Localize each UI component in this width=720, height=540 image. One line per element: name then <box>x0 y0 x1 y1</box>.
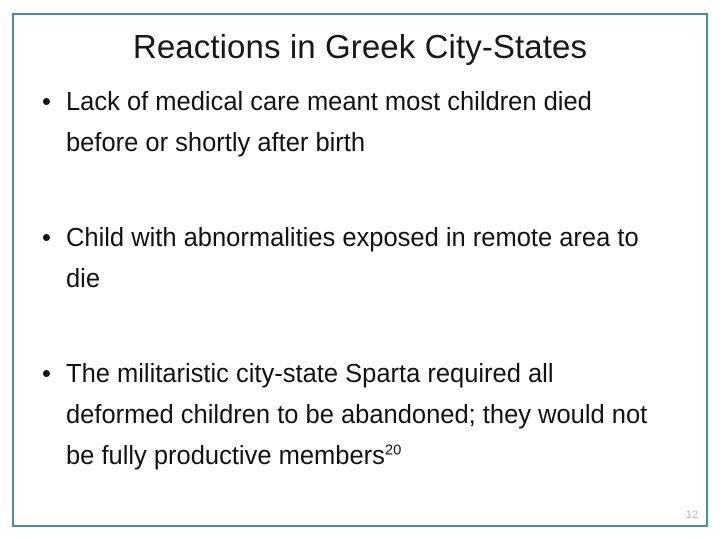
list-item: • Child with abnormalities exposed in re… <box>38 218 660 300</box>
page-title: Reactions in Greek City-States <box>30 27 690 67</box>
list-item: • The militaristic city-state Sparta req… <box>38 354 660 477</box>
bullet-point-icon: • <box>42 82 51 123</box>
slide-page-number: 12 <box>686 509 698 522</box>
bullet-list: • Lack of medical care meant most childr… <box>38 82 660 477</box>
bullet-point-icon: • <box>42 354 51 395</box>
slide-canvas: Reactions in Greek City-States • Lack of… <box>0 0 720 540</box>
list-item-body: The militaristic city-state Sparta requi… <box>66 360 647 470</box>
bullet-point-icon: • <box>42 218 51 259</box>
list-item-text: The militaristic city-state Sparta requi… <box>66 354 660 477</box>
list-item-text: Lack of medical care meant most children… <box>66 82 660 164</box>
footnote-reference: 20 <box>385 443 401 459</box>
list-item: • Lack of medical care meant most childr… <box>38 82 660 164</box>
list-item-text: Child with abnormalities exposed in remo… <box>66 218 660 300</box>
